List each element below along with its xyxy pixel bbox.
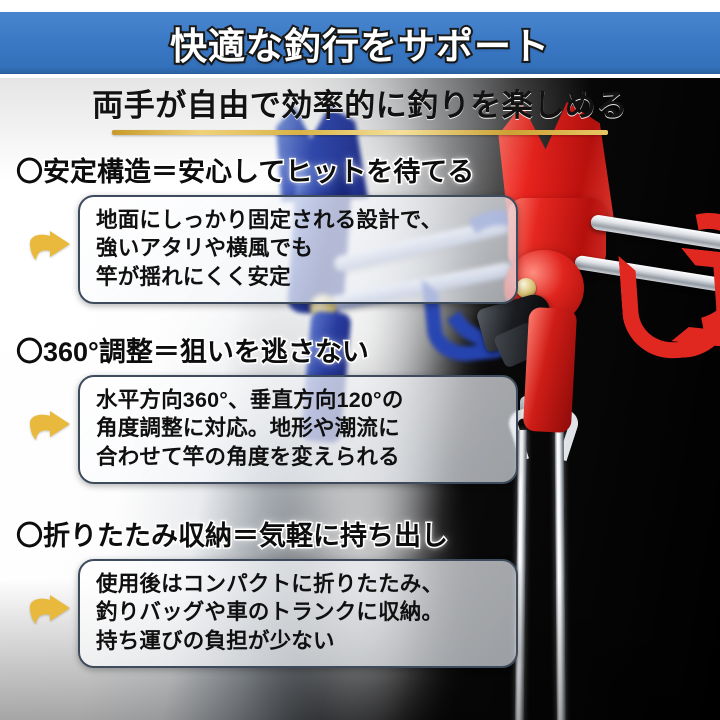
feature-1-row: 地面にしっかり固定される設計で、 強いアタリや横風でも 竿が揺れにくく安定	[16, 195, 518, 305]
subtitle-text: 両手が自由で効率的に釣りを楽しめる	[92, 80, 628, 125]
feature-1-line-2: 強いアタリや横風でも	[96, 234, 500, 263]
subtitle-block: 両手が自由で効率的に釣りを楽しめる	[0, 80, 720, 135]
feature-2-line-3: 合わせて竿の角度を変えられる	[96, 443, 500, 472]
feature-1-line-3: 竿が揺れにくく安定	[96, 263, 500, 292]
feature-3-textbox: 使用後はコンパクトに折りたたみ、 釣りバッグや車のトランクに収納。 持ち運びの負…	[78, 559, 518, 669]
feature-2-line-2: 角度調整に対応。地形や潮流に	[96, 414, 500, 443]
feature-block-2: 〇360°調整＝狙いを逃さない 水平方向360°、垂直方向120°の 角度調整に…	[16, 338, 518, 484]
feature-block-3: 〇折りたたみ収納＝気軽に持ち出し 使用後はコンパクトに折りたたみ、 釣りバッグや…	[16, 522, 518, 668]
feature-3-row: 使用後はコンパクトに折りたたみ、 釣りバッグや車のトランクに収納。 持ち運びの負…	[16, 559, 518, 669]
curved-arrow-right-icon	[26, 230, 72, 270]
feature-block-1: 〇安定構造＝安心してヒットを待てる 地面にしっかり固定される設計で、 強いアタリ…	[16, 158, 518, 304]
banner-title-text: 快適な釣行をサポート	[170, 16, 550, 70]
feature-1-line-1: 地面にしっかり固定される設計で、	[96, 206, 500, 235]
product-feature-graphic: 快適な釣行をサポート 両手が自由で効率的に釣りを楽しめる 〇安定構造＝安心してヒ…	[0, 0, 720, 720]
feature-2-row: 水平方向360°、垂直方向120°の 角度調整に対応。地形や潮流に 合わせて竿の…	[16, 375, 518, 485]
feature-2-textbox: 水平方向360°、垂直方向120°の 角度調整に対応。地形や潮流に 合わせて竿の…	[78, 375, 518, 485]
feature-3-line-2: 釣りバッグや車のトランクに収納。	[96, 598, 500, 627]
feature-2-heading: 〇360°調整＝狙いを逃さない	[16, 338, 518, 368]
subtitle-underline	[112, 130, 608, 135]
feature-2-line-1: 水平方向360°、垂直方向120°の	[96, 386, 500, 415]
feature-3-heading: 〇折りたたみ収納＝気軽に持ち出し	[16, 522, 518, 552]
feature-1-heading: 〇安定構造＝安心してヒットを待てる	[16, 158, 518, 188]
title-banner: 快適な釣行をサポート	[0, 12, 720, 74]
curved-arrow-right-icon	[26, 594, 72, 634]
feature-3-line-1: 使用後はコンパクトに折りたたみ、	[96, 570, 500, 599]
curved-arrow-right-icon	[26, 410, 72, 450]
feature-3-line-3: 持ち運びの負担が少ない	[96, 627, 500, 656]
feature-1-textbox: 地面にしっかり固定される設計で、 強いアタリや横風でも 竿が揺れにくく安定	[78, 195, 518, 305]
